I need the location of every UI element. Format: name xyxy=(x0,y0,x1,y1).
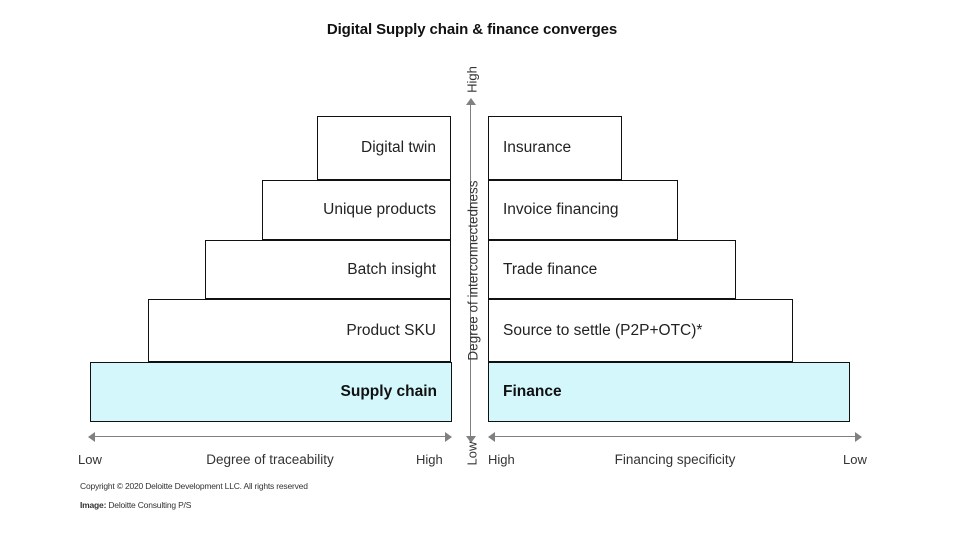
pyramid-bar-source-to-settle[interactable]: Source to settle (P2P+OTC)* xyxy=(488,299,793,362)
pyramid-bar-trade-finance[interactable]: Trade finance xyxy=(488,240,736,299)
right-x-axis-title: Financing specificity xyxy=(555,452,795,467)
copyright-text: Copyright © 2020 Deloitte Development LL… xyxy=(80,481,308,491)
right-x-axis-line xyxy=(494,436,856,437)
bar-label: Insurance xyxy=(503,139,571,157)
left-x-axis-low-label: Low xyxy=(78,452,102,467)
arrow-right-icon xyxy=(855,432,862,442)
right-x-axis-arrow xyxy=(488,432,862,442)
image-credit: Image: Deloitte Consulting P/S xyxy=(80,500,191,510)
right-x-axis-high-label: High xyxy=(488,452,515,467)
pyramid-bar-batch-insight[interactable]: Batch insight xyxy=(205,240,451,299)
bar-label: Supply chain xyxy=(341,383,437,401)
pyramid-bar-product-sku[interactable]: Product SKU xyxy=(148,299,451,362)
left-x-axis-title: Degree of traceability xyxy=(150,452,390,467)
bar-label: Source to settle (P2P+OTC)* xyxy=(503,322,702,340)
bar-label: Invoice financing xyxy=(503,201,618,219)
page-title: Digital Supply chain & finance converges xyxy=(0,21,944,38)
pyramid-bar-digital-twin[interactable]: Digital twin xyxy=(317,116,451,180)
pyramid-bar-invoice-financing[interactable]: Invoice financing xyxy=(488,180,678,240)
right-x-axis-low-label: Low xyxy=(843,452,867,467)
bar-label: Batch insight xyxy=(347,261,436,279)
bar-label: Trade finance xyxy=(503,261,597,279)
y-axis-title: Degree of interconnectedness xyxy=(466,176,481,366)
pyramid-bar-insurance[interactable]: Insurance xyxy=(488,116,622,180)
pyramid-bar-supply-chain[interactable]: Supply chain xyxy=(90,362,452,422)
left-x-axis-arrow xyxy=(88,432,452,442)
pyramid-bar-unique-products[interactable]: Unique products xyxy=(262,180,451,240)
image-credit-label: Image: xyxy=(80,500,106,510)
left-x-axis-line xyxy=(94,436,446,437)
bar-label: Unique products xyxy=(323,201,436,219)
y-axis-low-label: Low xyxy=(465,432,480,476)
pyramid-bar-finance[interactable]: Finance xyxy=(488,362,850,422)
image-credit-value: Deloitte Consulting P/S xyxy=(106,500,191,510)
arrow-right-icon xyxy=(445,432,452,442)
bar-label: Product SKU xyxy=(346,322,436,340)
bar-label: Digital twin xyxy=(361,139,436,157)
left-x-axis-high-label: High xyxy=(416,452,443,467)
bar-label: Finance xyxy=(503,383,562,401)
y-axis-high-label: High xyxy=(465,58,480,102)
